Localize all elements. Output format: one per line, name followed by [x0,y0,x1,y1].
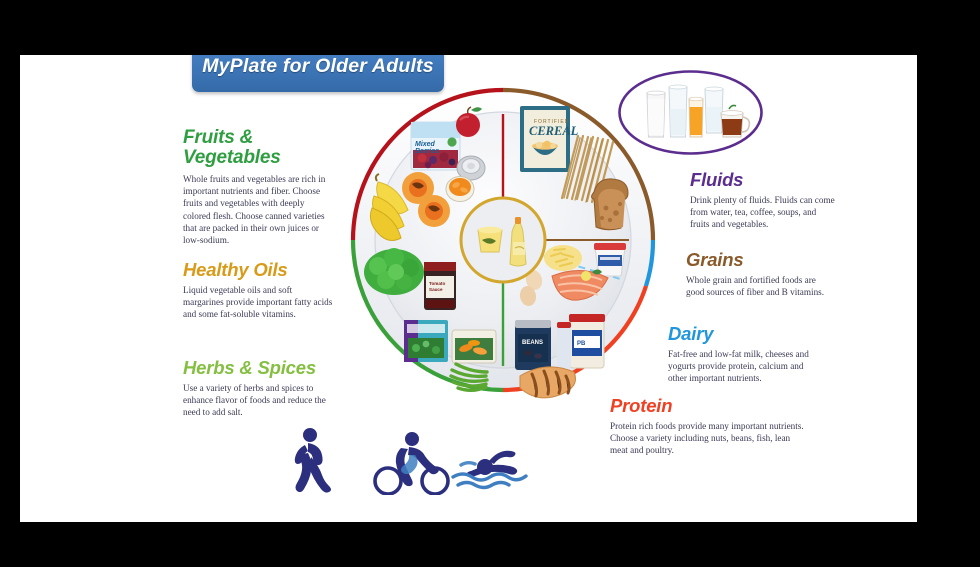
svg-text:PB: PB [577,341,586,347]
section-herbs-spices: Herbs & Spices Use a variety of herbs an… [183,358,343,419]
page-title: MyPlate for Older Adults [202,55,434,78]
section-body-herbs-spices: Use a variety of herbs and spices to enh… [183,382,343,419]
margarine-tub [478,227,502,252]
svg-text:Berries: Berries [415,148,439,155]
section-heading-dairy: Dairy [668,324,820,344]
section-dairy: Dairy Fat-free and low-fat milk, cheeses… [668,324,820,385]
section-grains: Grains Whole grain and fortified foods a… [686,250,828,298]
section-body-protein: Protein rich foods provide many importan… [610,420,810,457]
heading-line-1: Fruits & [183,127,253,148]
water-glass-icon [669,85,687,137]
cycling-icon [375,432,448,494]
svg-text:CEREAL: CEREAL [529,124,579,138]
poster-canvas: MyPlate for Older Adults Fruits & Vegeta… [20,55,917,522]
plate-graphic: Mixed Berries [348,80,658,400]
section-body-fluids: Drink plenty of fluids. Fluids can come … [690,194,835,231]
section-body-healthy-oils: Liquid vegetable oils and soft margarine… [183,284,335,321]
frozen-vegetable-box [404,320,448,362]
fortified-cereal-box: FORTIFIED CEREAL [520,106,579,172]
canned-beans: BEANS [515,320,551,370]
walking-icon [295,428,331,493]
canned-carrots [452,330,496,363]
section-protein: Protein Protein rich foods provide many … [610,396,810,457]
section-fluids: Fluids Drink plenty of fluids. Fluids ca… [690,170,835,231]
canned-peaches-cup [446,177,474,202]
section-heading-fruits-vegetables: Fruits & Vegetables [183,128,331,169]
section-heading-herbs-spices: Herbs & Spices [183,358,343,378]
section-heading-healthy-oils: Healthy Oils [183,260,335,280]
myplate-diagram: Mixed Berries [348,80,658,400]
section-heading-fluids: Fluids [690,170,835,190]
section-fruits-vegetables: Fruits & Vegetables Whole fruits and veg… [183,128,331,247]
peanut-butter-jar: PB [557,314,605,368]
mixed-berries-bag: Mixed Berries [411,122,460,170]
swimming-icon [453,451,526,488]
grilled-chicken [520,367,576,398]
svg-text:Tomato: Tomato [429,281,445,286]
section-heading-grains: Grains [686,250,828,270]
section-body-dairy: Fat-free and low-fat milk, cheeses and y… [668,348,820,385]
section-body-fruits-vegetables: Whole fruits and vegetables are rich in … [183,173,331,247]
section-healthy-oils: Healthy Oils Liquid vegetable oils and s… [183,260,335,321]
food-group-protein: BEANS PB [515,268,608,398]
orange-juice-glass-icon [689,97,703,137]
activity-icons-row [275,425,535,495]
healthy-oils-center [461,198,545,282]
svg-text:Mixed: Mixed [415,141,436,148]
shredded-cheese [544,245,582,271]
water-glass-icon-2 [705,87,723,133]
heading-line-2: Vegetables [183,147,281,168]
whole-grain-bread [592,179,629,230]
section-body-grains: Whole grain and fortified foods are good… [686,274,828,299]
svg-text:BEANS: BEANS [522,340,543,346]
tomato-sauce-jar: Tomato Sauce [424,262,456,310]
svg-text:Sauce: Sauce [429,287,443,292]
